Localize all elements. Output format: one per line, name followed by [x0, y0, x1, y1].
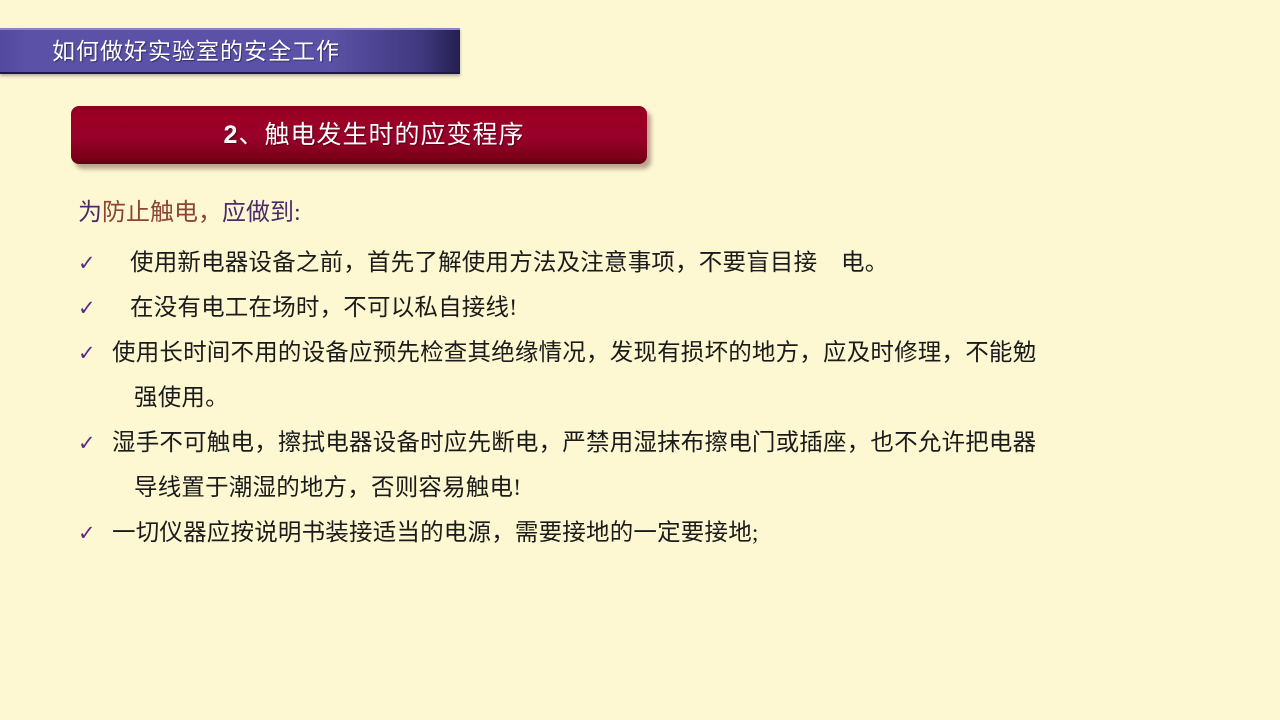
check-icon: ✓: [78, 421, 104, 466]
slide-title-text: 如何做好实验室的安全工作: [52, 40, 340, 63]
section-banner-text: 2、触电发生时的应变程序: [194, 123, 525, 148]
check-icon: ✓: [78, 331, 104, 376]
list-item-text: 使用长时间不用的设备应预先检查其绝缘情况，发现有损坏的地方，应及时修理，不能勉: [112, 331, 1208, 376]
bullet-list: ✓ 使用新电器设备之前，首先了解使用方法及注意事项，不要盲目接 电。 ✓ 在没有…: [78, 241, 1208, 556]
list-item: ✓ 使用长时间不用的设备应预先检查其绝缘情况，发现有损坏的地方，应及时修理，不能…: [78, 331, 1208, 421]
list-item-text: 湿手不可触电，擦拭电器设备时应先断电，严禁用湿抹布擦电门或插座，也不允许把电器: [112, 421, 1208, 466]
lead-part-a: 为: [78, 200, 102, 226]
check-icon: ✓: [78, 511, 104, 556]
slide-content: 为防止触电，应做到: ✓ 使用新电器设备之前，首先了解使用方法及注意事项，不要盲…: [78, 196, 1208, 556]
list-item-text: 使用新电器设备之前，首先了解使用方法及注意事项，不要盲目接 电。: [112, 241, 1208, 286]
list-item: ✓ 使用新电器设备之前，首先了解使用方法及注意事项，不要盲目接 电。: [78, 241, 1208, 286]
list-item-text: 在没有电工在场时，不可以私自接线!: [112, 286, 1208, 331]
slide-title-bar: 如何做好实验室的安全工作: [0, 28, 460, 74]
list-item-text-continued: 强使用。: [112, 376, 1208, 421]
check-icon: ✓: [78, 241, 104, 286]
list-item: ✓ 在没有电工在场时，不可以私自接线!: [78, 286, 1208, 331]
list-item-text: 一切仪器应按说明书装接适当的电源，需要接地的一定要接地;: [112, 511, 1208, 556]
section-banner: 2、触电发生时的应变程序: [71, 106, 647, 164]
lead-part-b: 防止触电，: [102, 200, 222, 226]
section-number: 2: [224, 121, 239, 149]
list-item: ✓ 湿手不可触电，擦拭电器设备时应先断电，严禁用湿抹布擦电门或插座，也不允许把电…: [78, 421, 1208, 511]
lead-part-c: 应做到:: [222, 200, 301, 226]
list-item: ✓ 一切仪器应按说明书装接适当的电源，需要接地的一定要接地;: [78, 511, 1208, 556]
check-icon: ✓: [78, 286, 104, 331]
section-title: 触电发生时的应变程序: [264, 122, 524, 149]
section-separator: 、: [238, 122, 264, 149]
lead-paragraph: 为防止触电，应做到:: [78, 196, 1208, 230]
list-item-text-continued: 导线置于潮湿的地方，否则容易触电!: [112, 466, 1208, 511]
